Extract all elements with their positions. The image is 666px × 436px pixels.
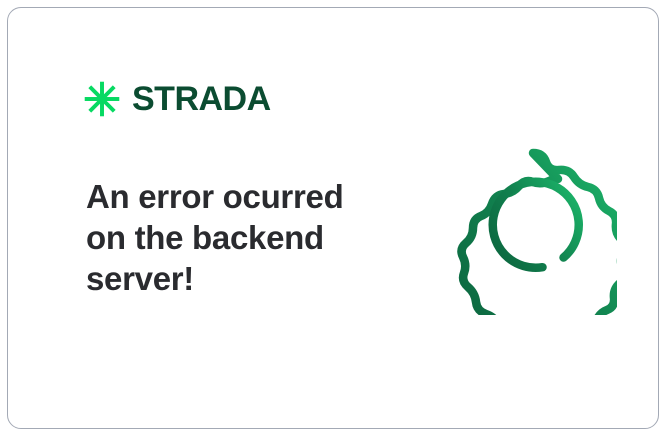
app-screen: STRADA An error ocurred on the backend s…	[0, 0, 666, 436]
brand-lockup: STRADA	[84, 78, 271, 120]
error-message: An error ocurred on the backend server!	[86, 176, 386, 299]
error-card: STRADA An error ocurred on the backend s…	[7, 7, 659, 429]
gear-outline-icon	[449, 143, 617, 315]
brand-wordmark: STRADA	[132, 82, 271, 116]
strada-asterisk-icon	[84, 81, 120, 117]
